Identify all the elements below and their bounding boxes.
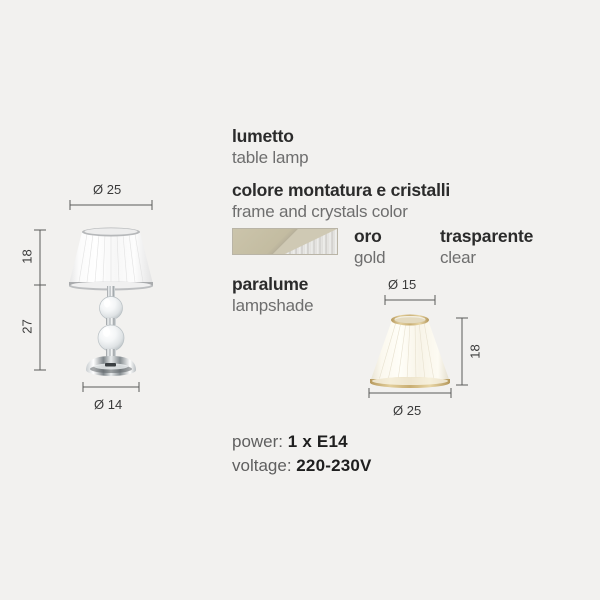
lamp-shade-height-label: 18 [20, 249, 35, 263]
frame-color-it: colore montatura e cristalli [232, 180, 582, 201]
lampshade-svg [355, 275, 535, 420]
electrical-spec-block: power: 1 x E14 voltage: 220-230V [232, 430, 372, 478]
color-option-gold: oro gold [354, 226, 385, 268]
lamp-shade-shape [69, 228, 153, 291]
voltage-value: 220-230V [296, 456, 371, 475]
color-clear-it: trasparente [440, 226, 533, 247]
product-name-en: table lamp [232, 147, 582, 168]
voltage-label: voltage: [232, 456, 296, 475]
color-gold-it: oro [354, 226, 385, 247]
lamp-base-diameter-label: Ø 14 [94, 397, 122, 412]
color-clear-en: clear [440, 247, 533, 268]
lamp-top-diameter-label: Ø 25 [93, 182, 121, 197]
color-option-clear: trasparente clear [440, 226, 533, 268]
top-diameter-dimline [70, 200, 152, 210]
shade-top-dimline [385, 295, 435, 305]
shade-height-dimline [456, 318, 468, 385]
spec-text-block: lumetto table lamp colore montatura e cr… [232, 126, 582, 234]
lamp-body-height-label: 27 [20, 319, 35, 333]
base-diameter-dimline [83, 382, 139, 392]
shade-height-label: 18 [468, 344, 483, 358]
color-options-row: oro gold trasparente clear [232, 226, 582, 274]
height-dimline [34, 230, 46, 370]
power-label: power: [232, 432, 288, 451]
lampshade-drawing: Ø 15 Ø 25 18 [355, 275, 535, 420]
product-name-it: lumetto [232, 126, 582, 147]
color-swatch-gold-crystal [232, 228, 338, 255]
voltage-line: voltage: 220-230V [232, 454, 372, 478]
lampshade-en: lampshade [232, 295, 313, 316]
shade-bottom-dimline [369, 388, 451, 398]
frame-color-en: frame and crystals color [232, 201, 582, 222]
product-name-group: lumetto table lamp [232, 126, 582, 168]
shade-top-diameter-label: Ø 15 [388, 277, 416, 292]
power-value: 1 x E14 [288, 432, 348, 451]
frame-color-group: colore montatura e cristalli frame and c… [232, 180, 582, 222]
chrome-base-shape [86, 356, 136, 376]
lampshade-heading-group: paralume lampshade [232, 274, 313, 316]
color-gold-en: gold [354, 247, 385, 268]
power-line: power: 1 x E14 [232, 430, 372, 454]
table-lamp-drawing: Ø 25 Ø 14 18 27 [0, 0, 220, 420]
lampshade-it: paralume [232, 274, 313, 295]
crystal-stem-shape [98, 286, 124, 357]
product-spec-sheet: Ø 25 Ø 14 18 27 lumetto table lamp color… [0, 0, 600, 600]
shade-bottom-diameter-label: Ø 25 [393, 403, 421, 418]
table-lamp-svg [0, 0, 220, 420]
lampshade-shape [370, 315, 450, 389]
